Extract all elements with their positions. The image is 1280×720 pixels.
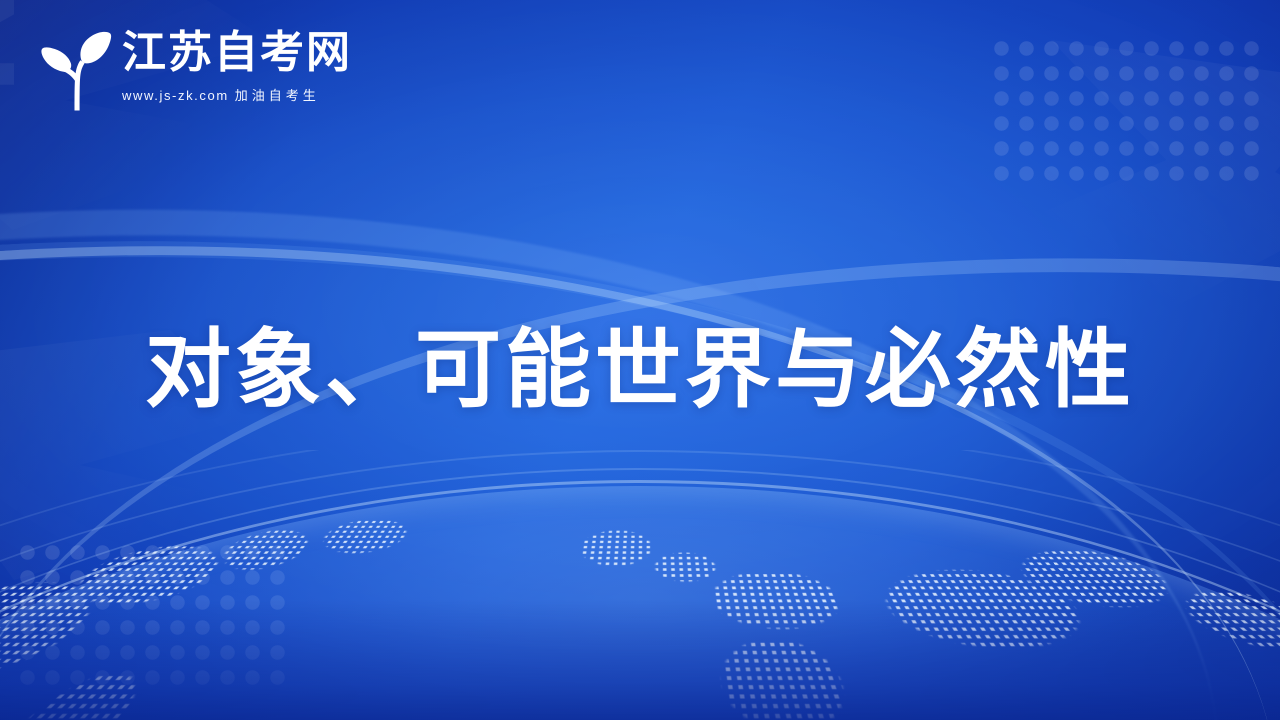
logo-url: www.js-zk.com <box>122 88 229 103</box>
logo-slogan: 加油自考生 <box>235 88 320 103</box>
site-logo[interactable]: 江苏自考网 www.js-zk.com加油自考生 <box>34 24 352 112</box>
logo-title: 江苏自考网 <box>122 30 352 76</box>
logo-text-block: 江苏自考网 www.js-zk.com加油自考生 <box>122 24 352 104</box>
logo-tagline: www.js-zk.com加油自考生 <box>122 85 352 104</box>
news-banner: NEWS NEWS 江苏自考网 www.js-zk.com加油 <box>0 0 1280 720</box>
headline-block: 对象、可能世界与必然性 <box>0 322 1280 418</box>
headline-title: 对象、可能世界与必然性 <box>145 322 1135 418</box>
sprout-icon <box>34 26 112 112</box>
